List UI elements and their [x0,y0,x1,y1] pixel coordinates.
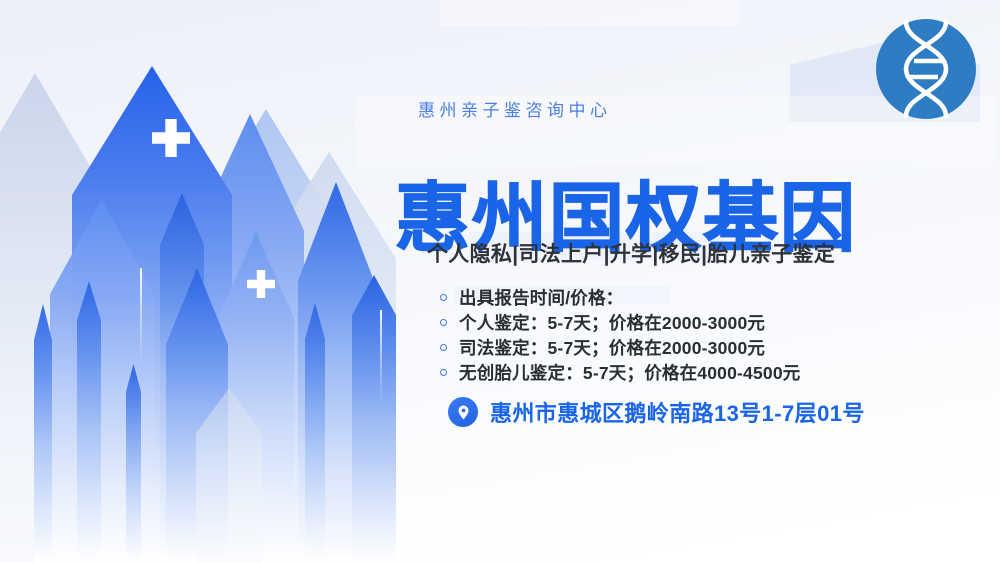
service-tagline: 个人隐私|司法上户|升学|移民|胎儿亲子鉴定 [427,238,835,268]
service-list: 出具报告时间/价格： 个人鉴定：5-7天；价格在2000-3000元 司法鉴定：… [440,285,800,385]
bullet-circle-icon [440,369,447,376]
tower-highlight-line-right [380,310,382,402]
location-pin-icon [448,397,478,427]
tower-far-right [352,275,396,562]
tower-slim-right [305,303,325,562]
list-item-label: 无创胎儿鉴定：5-7天；价格在4000-4500元 [459,360,800,385]
list-item: 出具报告时间/价格： [440,285,800,310]
address-row: 惠州市惠城区鹅岭南路13号1-7层01号 [448,396,865,428]
city-skyline-illustration [0,0,430,562]
bullet-circle-icon [440,294,447,301]
list-item-label: 出具报告时间/价格： [459,285,623,310]
list-item-label: 司法鉴定：5-7天；价格在2000-3000元 [459,335,765,360]
tower-highlight-line-left [140,268,142,364]
bullet-circle-icon [440,319,447,326]
banner-content: 惠州亲子鉴咨询中心 惠州国权基因 个人隐私|司法上户|升学|移民|胎儿亲子鉴定 … [400,0,1000,562]
page-eyebrow: 惠州亲子鉴咨询中心 [418,96,612,121]
list-item-label: 个人鉴定：5-7天；价格在2000-3000元 [459,310,765,335]
tower-slim-far-left [34,304,52,562]
list-item: 个人鉴定：5-7天；价格在2000-3000元 [440,310,800,335]
promo-banner: 惠州亲子鉴咨询中心 惠州国权基因 个人隐私|司法上户|升学|移民|胎儿亲子鉴定 … [0,0,1000,562]
list-item: 无创胎儿鉴定：5-7天；价格在4000-4500元 [440,360,800,385]
tower-slim-left [77,281,101,562]
list-item: 司法鉴定：5-7天；价格在2000-3000元 [440,335,800,360]
bullet-circle-icon [440,344,447,351]
tower-slim-tiny [126,364,141,562]
address-text: 惠州市惠城区鹅岭南路13号1-7层01号 [490,396,865,428]
